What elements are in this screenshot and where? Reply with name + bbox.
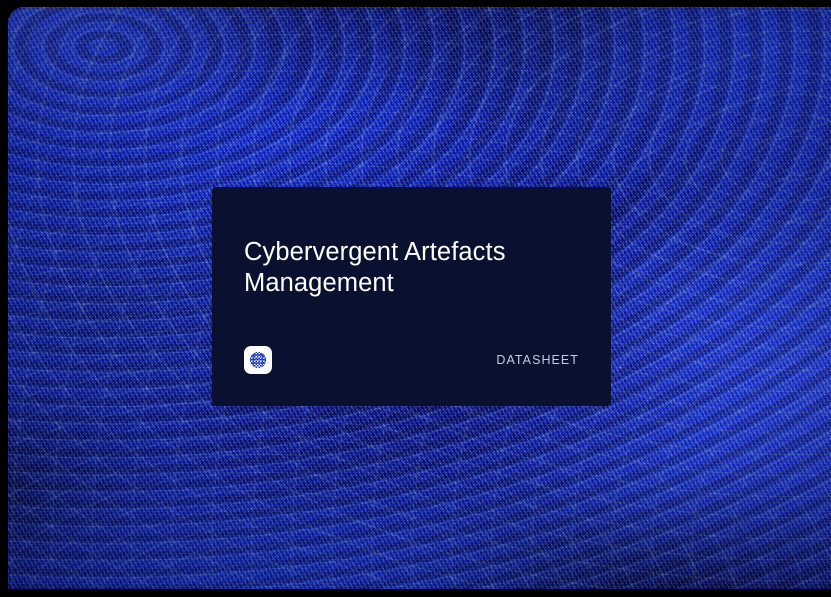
globe-mosaic-icon — [248, 350, 268, 370]
page-title: Cybervergent Artefacts Management — [244, 237, 534, 299]
card-footer: DATASHEET — [244, 346, 579, 374]
title-card: Cybervergent Artefacts Management — [212, 187, 611, 406]
slide-canvas: Cybervergent Artefacts Management — [0, 0, 831, 597]
document-type-label: DATASHEET — [496, 353, 579, 367]
brand-logo — [244, 346, 272, 374]
